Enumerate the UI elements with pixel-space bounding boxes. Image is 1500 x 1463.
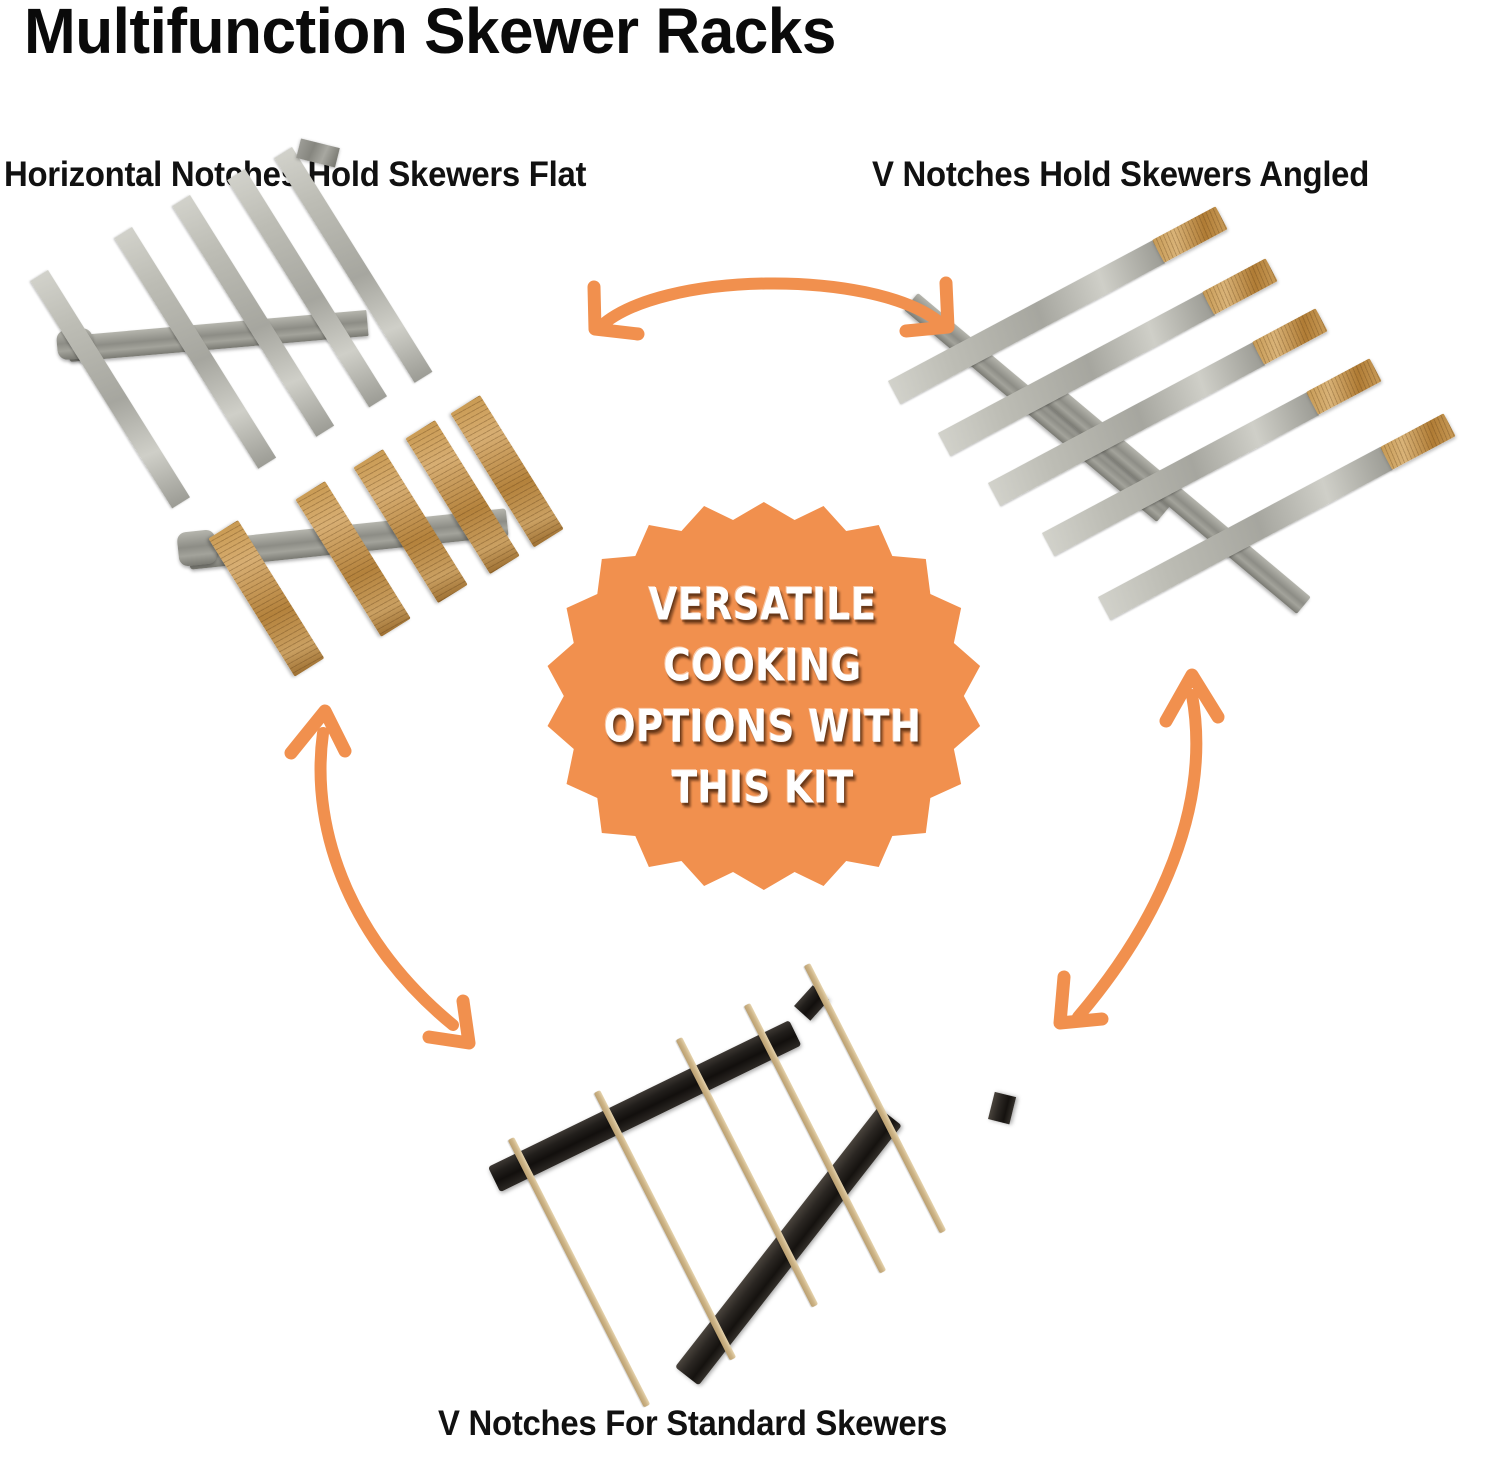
infographic-page: Multifunction Skewer Racks Horizontal No… — [0, 0, 1500, 1463]
starburst-icon — [543, 500, 983, 892]
skewer-handle — [1152, 206, 1228, 263]
page-title: Multifunction Skewer Racks — [24, 0, 836, 68]
arrow-top — [570, 255, 970, 365]
caption-bottom: V Notches For Standard Skewers — [438, 1404, 947, 1444]
arrow-right — [1040, 665, 1260, 1050]
bamboo-skewers-photo — [470, 915, 1060, 1385]
bamboo-skewer — [594, 1090, 736, 1360]
bamboo-skewer — [508, 1137, 650, 1407]
bamboo-skewer — [676, 1037, 818, 1307]
skewer-handle — [1202, 258, 1278, 315]
skewer-handle — [1306, 358, 1382, 415]
rack-rail-back — [488, 1020, 801, 1192]
arrow-left — [285, 695, 505, 1050]
skewer-handle — [1252, 308, 1328, 365]
skewer-handle — [1380, 413, 1456, 470]
rack-rail-front-tip — [988, 1092, 1016, 1124]
rack-rail-front-ext — [176, 529, 217, 567]
caption-top-right: V Notches Hold Skewers Angled — [872, 155, 1369, 195]
versatile-badge: VERSATILE COOKING OPTIONS WITH THIS KIT — [543, 500, 983, 892]
